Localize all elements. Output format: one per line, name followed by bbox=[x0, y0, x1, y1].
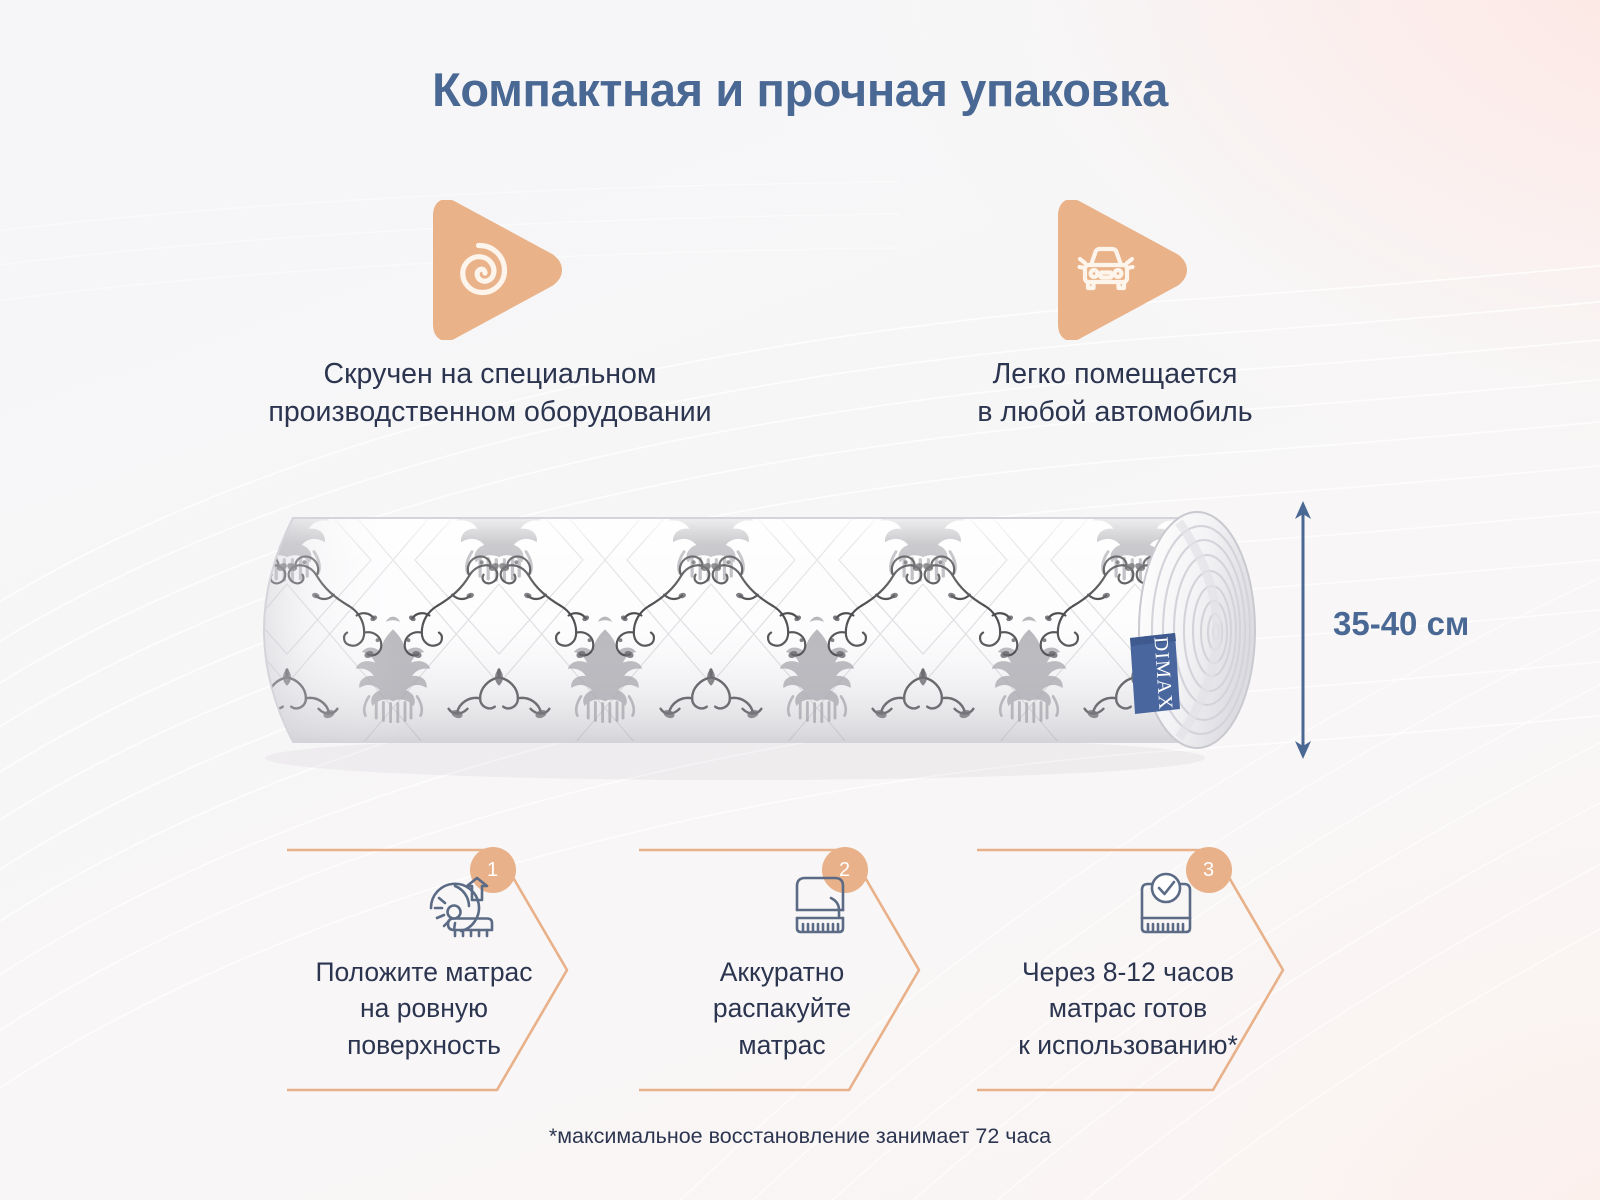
feature-badge-car bbox=[1039, 200, 1191, 340]
mattress-unpack-icon bbox=[783, 872, 857, 942]
brand-label-dimax: DIMAX bbox=[1130, 633, 1180, 714]
dimension-annotation: 35-40 см bbox=[1285, 495, 1585, 765]
rolled-mattress-image: DIMAX bbox=[175, 470, 1280, 790]
feature-label-roll: Скручен на специальном производственном … bbox=[180, 356, 800, 432]
step-1[interactable]: 1 Положите матрас на ровную поверхность bbox=[285, 846, 615, 1094]
step-label: Через 8-12 часов матрас готов к использо… bbox=[983, 954, 1273, 1063]
step-3[interactable]: 3 Через 8-12 часов матрас готов к исполь… bbox=[975, 846, 1305, 1094]
mattress-ready-check-icon bbox=[1129, 872, 1203, 942]
dimension-label: 35-40 см bbox=[1333, 605, 1469, 643]
infographic-canvas: Компактная и прочная упаковка Скручен на… bbox=[0, 0, 1600, 1200]
step-label: Положите матрас на ровную поверхность bbox=[293, 954, 555, 1063]
feature-badge-roll bbox=[414, 200, 566, 340]
feature-label-car: Легко помещается в любой автомобиль bbox=[880, 356, 1350, 432]
feature-rolled-on-equipment: Скручен на специальном производственном … bbox=[180, 200, 800, 432]
step-label: Аккуратно распакуйте матрас bbox=[651, 954, 913, 1063]
steps-row: 1 Положите матрас на ровную поверхность bbox=[285, 846, 1305, 1094]
footnote: *максимальное восстановление занимает 72… bbox=[0, 1124, 1600, 1149]
step-2[interactable]: 2 Аккуратно распакуйте матрас bbox=[637, 846, 967, 1094]
spiral-roll-icon bbox=[442, 232, 520, 310]
roll-cross-section bbox=[1139, 512, 1255, 748]
unroll-mattress-icon bbox=[425, 872, 499, 942]
car-icon bbox=[1067, 232, 1145, 310]
page-title: Компактная и прочная упаковка bbox=[0, 62, 1600, 117]
feature-fits-in-car: Легко помещается в любой автомобиль bbox=[880, 200, 1350, 432]
